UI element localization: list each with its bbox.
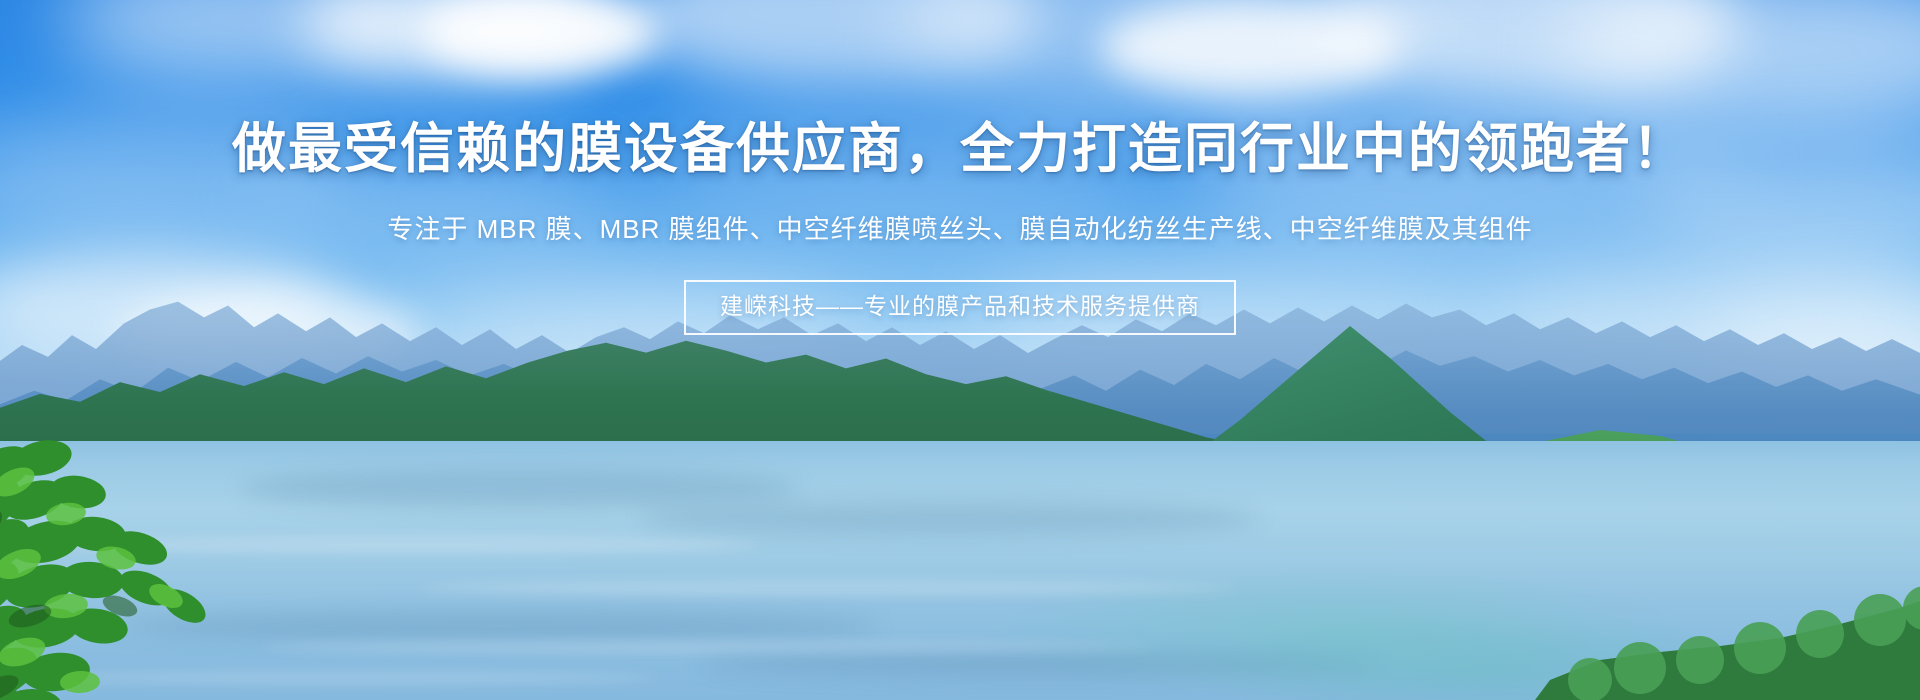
banner-tagline-box: 建嵘科技——专业的膜产品和技术服务提供商 — [684, 280, 1236, 335]
foreground-foliage-right — [1520, 520, 1920, 700]
banner-headline: 做最受信赖的膜设备供应商，全力打造同行业中的领跑者！ — [232, 122, 1688, 176]
banner-subheadline: 专注于 MBR 膜、MBR 膜组件、中空纤维膜喷丝头、膜自动化纺丝生产线、中空纤… — [387, 216, 1532, 242]
foreground-foliage — [0, 430, 230, 700]
hero-banner: 做最受信赖的膜设备供应商，全力打造同行业中的领跑者！ 专注于 MBR 膜、MBR… — [0, 0, 1920, 700]
